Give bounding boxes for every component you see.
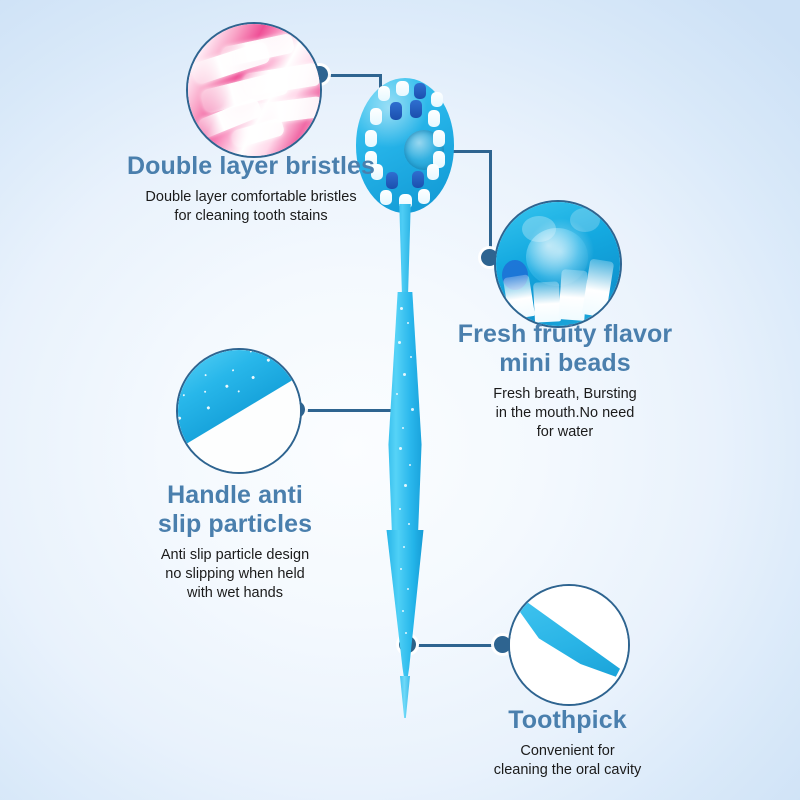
feature-desc-line: for water (537, 424, 593, 440)
feature-heading-line: mini beads (499, 349, 631, 377)
feature-heading-double-layer-bristles: Double layer bristles (118, 152, 384, 181)
feature-caption-handle-particles: Handle anti slip particles Anti slip par… (110, 481, 360, 603)
feature-caption-double-layer-bristles: Double layer bristles Double layer comfo… (118, 152, 384, 226)
feature-desc-line: Double layer comfortable bristles (145, 189, 356, 205)
handle-grip-band (176, 348, 302, 454)
feature-desc-line: with wet hands (187, 585, 283, 601)
feature-heading-line: slip particles (158, 510, 312, 538)
connector-line-bristles-horizontal (320, 74, 382, 77)
feature-heading-line: Handle anti (167, 481, 303, 509)
feature-desc-line: Fresh breath, Bursting (493, 386, 636, 402)
feature-caption-toothpick: Toothpick Convenient for cleaning the or… (445, 706, 690, 780)
feature-desc-line: for cleaning tooth stains (174, 208, 327, 224)
brush-handle-grip (382, 292, 428, 538)
feature-heading-toothpick: Toothpick (445, 706, 690, 735)
feature-caption-flavor-beads: Fresh fruity flavor mini beads Fresh bre… (437, 320, 693, 442)
connector-line-beads-vertical (489, 150, 492, 256)
feature-desc-line: no slipping when held (165, 566, 304, 582)
detail-circle-double-layer-bristles (186, 22, 322, 158)
handle-particles-photo (178, 350, 300, 472)
feature-heading-flavor-beads: Fresh fruity flavor mini beads (437, 320, 693, 378)
detail-circle-handle-particles (176, 348, 302, 474)
feature-heading-handle-particles: Handle anti slip particles (110, 481, 360, 539)
infographic-canvas: Double layer bristles Double layer comfo… (0, 0, 800, 800)
feature-desc-line: Convenient for (520, 743, 614, 759)
feature-heading-line: Fresh fruity flavor (458, 320, 672, 348)
detail-circle-toothpick (508, 584, 630, 706)
brush-tail-taper (384, 530, 426, 690)
feature-desc-line: Anti slip particle design (161, 547, 309, 563)
brush-neck (393, 204, 417, 300)
feature-desc-line: in the mouth.No need (496, 405, 635, 421)
brush-tail-tip (398, 676, 412, 718)
feature-desc-line: cleaning the oral cavity (494, 762, 642, 778)
detail-circle-flavor-beads (494, 200, 622, 328)
